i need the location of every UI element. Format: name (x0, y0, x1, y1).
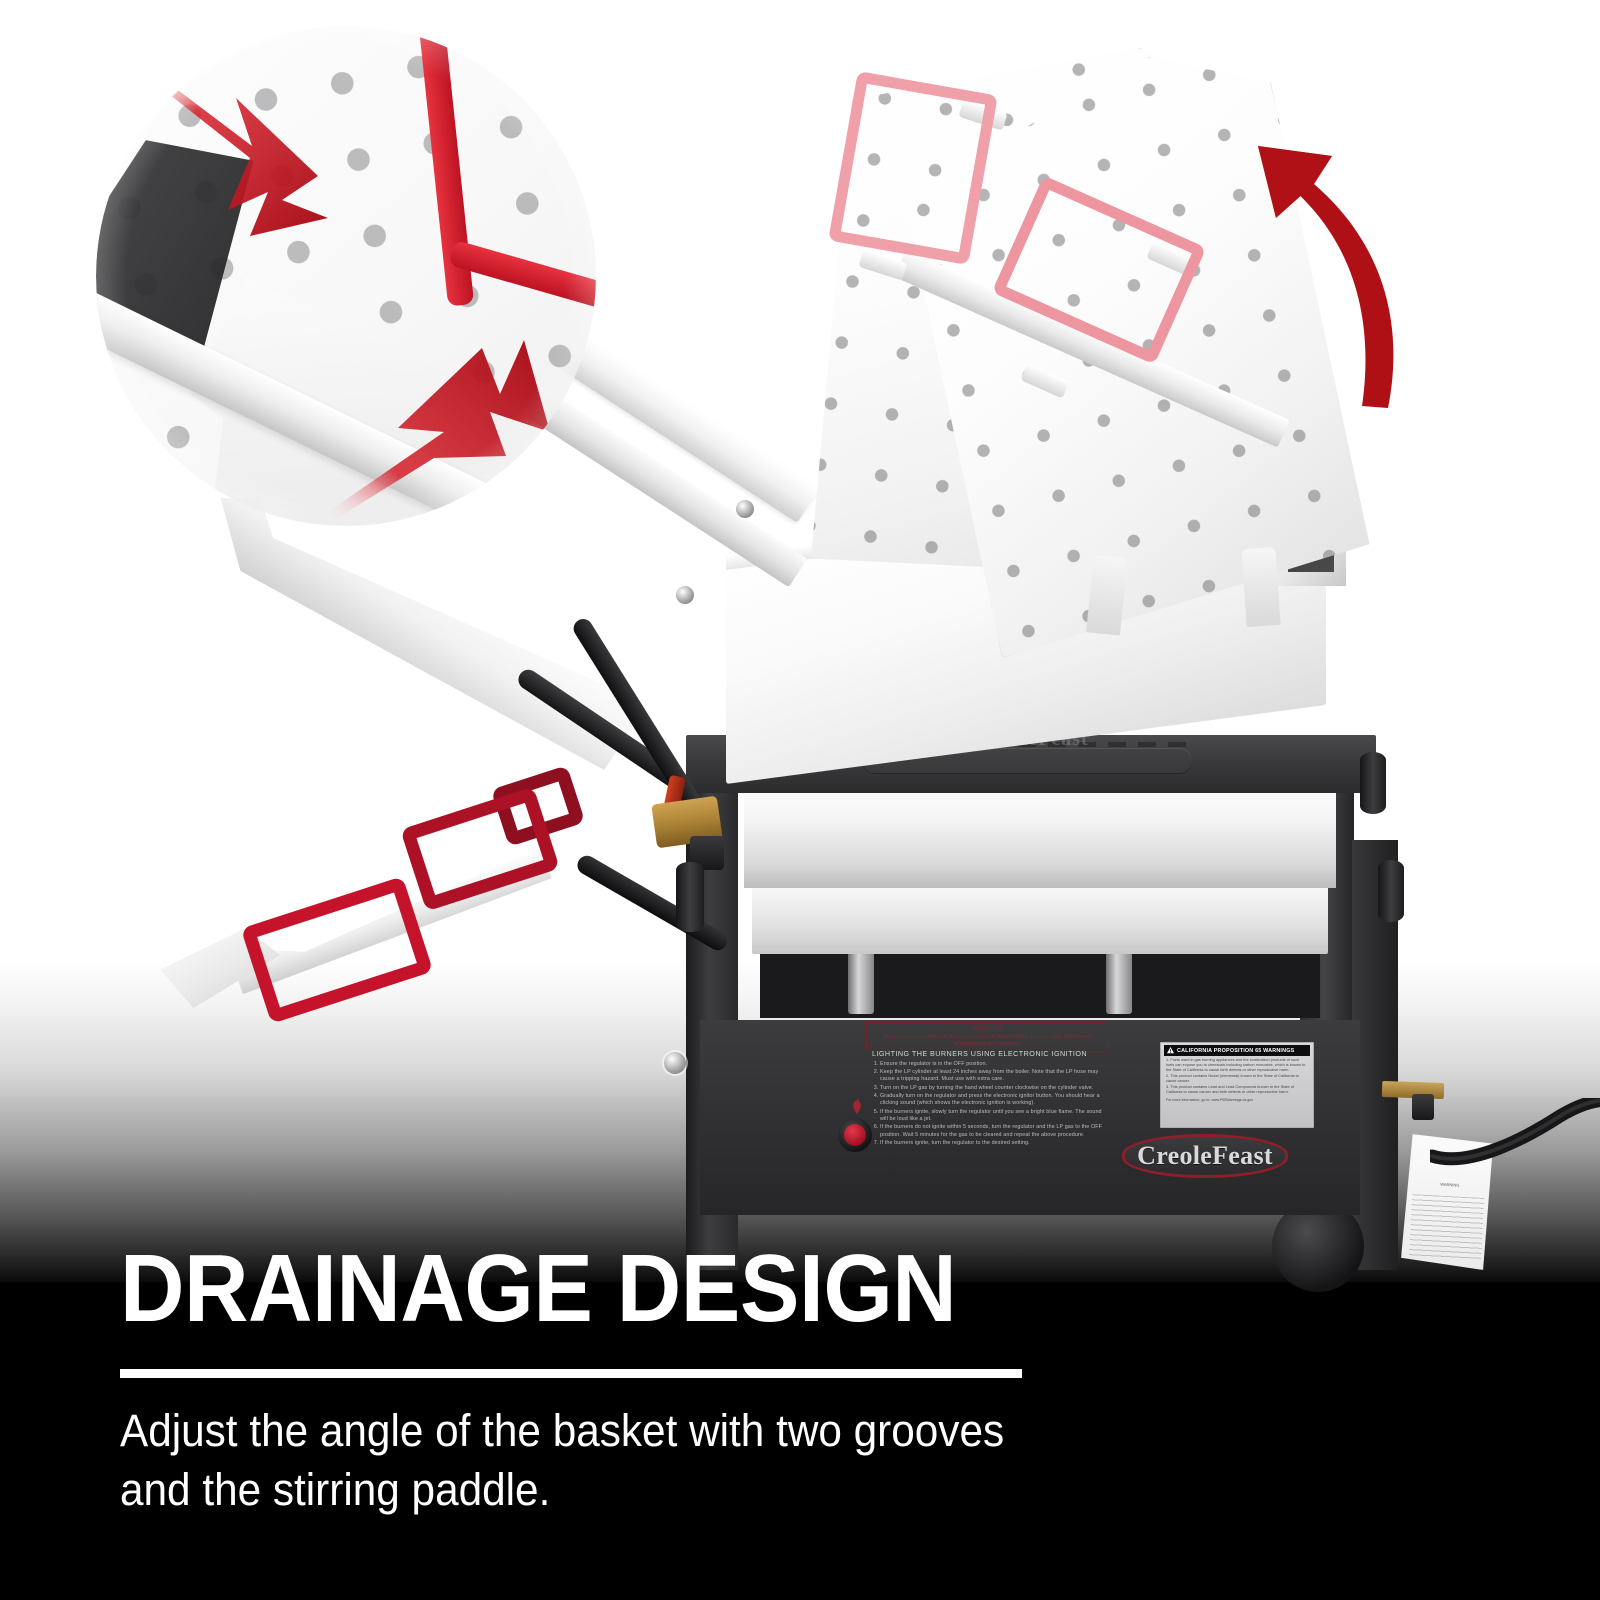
groove-mechanism-closeup (96, 26, 596, 526)
brand-badge: CreoleFeast (1122, 1134, 1288, 1178)
prop65-warning-decal: CALIFORNIA PROPOSITION 65 WARNINGS 1. Fu… (1160, 1042, 1314, 1128)
hanging-tag-text-lines (1409, 1194, 1484, 1260)
prop65-footer: For more information, go to: www.P65Warn… (1164, 1097, 1310, 1103)
page-title: DRAINAGE DESIGN (120, 1241, 956, 1337)
ignition-step: If the burners ignite, turn the regulato… (880, 1140, 1104, 1148)
brand-name: CreoleFeast (1137, 1141, 1273, 1171)
basket-handle-upper (828, 71, 998, 265)
warning-triangle-icon (1167, 1047, 1174, 1054)
burner-bay-panel (752, 880, 1328, 954)
hinge-screw (736, 500, 754, 518)
ignition-step: Gradually turn on the regulator and pres… (880, 1093, 1104, 1108)
subtitle-line-2: and the stirring paddle. (120, 1461, 1173, 1520)
burner-tube-left (848, 952, 874, 1014)
warning-decal-red: WARNING Read instructions before use. Fo… (866, 1022, 1108, 1052)
electronic-ignitor-button[interactable] (838, 1118, 872, 1152)
warning-decal-heading: WARNING (871, 1026, 1103, 1032)
basket-foot (1241, 547, 1280, 627)
lp-gas-hose (1430, 1098, 1600, 1170)
flame-icon (850, 1098, 864, 1114)
red-handle-front (241, 876, 434, 1024)
ignition-step: If the burners do not ignite within 5 se… (880, 1124, 1104, 1139)
burner-tube-right (1106, 952, 1132, 1014)
tool-holder-left (676, 862, 704, 932)
prop65-paragraph: 3. This product contains Lead and Lead C… (1166, 1085, 1308, 1095)
hinge-screw (676, 586, 694, 604)
ignition-steps-list: Ensure the regulator is in the OFF posit… (872, 1061, 1104, 1148)
basket-tilt-motion-arrow (1236, 118, 1426, 408)
warning-decal-body: Read instructions before use. For outdoo… (871, 1034, 1103, 1047)
product-photo: CreoleFeast (0, 0, 1600, 1290)
tool-holder-upper (1360, 752, 1386, 814)
arrow-pointing-to-groove (132, 50, 362, 250)
ignition-step: If the burners ignite, slowly turn the r… (880, 1109, 1104, 1124)
prop65-paragraph: 1. Fuels used in gas burning appliances … (1166, 1058, 1308, 1073)
prop65-paragraph: 2. This product contains Nickel (element… (1166, 1074, 1308, 1084)
arrow-pointing-to-notch (314, 324, 564, 524)
prop65-body: 1. Fuels used in gas burning appliances … (1164, 1056, 1310, 1095)
hinge-screw (664, 1052, 686, 1074)
ignition-step: Turn on the LP gas by turning the hand w… (880, 1085, 1104, 1093)
title-underline (120, 1369, 1022, 1378)
red-handle-mid (400, 786, 560, 911)
ignition-instructions-decal: LIGHTING THE BURNERS USING ELECTRONIC IG… (872, 1050, 1104, 1132)
tool-holder-lower (1378, 860, 1404, 922)
product-feature-image: CreoleFeast (0, 0, 1600, 1600)
ignition-instructions-heading: LIGHTING THE BURNERS USING ELECTRONIC IG… (872, 1050, 1104, 1058)
prop65-heading-bar: CALIFORNIA PROPOSITION 65 WARNINGS (1164, 1045, 1310, 1056)
prop65-heading-text: CALIFORNIA PROPOSITION 65 WARNINGS (1177, 1048, 1294, 1054)
ignition-step: Keep the LP cylinder at least 24 inches … (880, 1069, 1104, 1084)
burner-bay-shadow (760, 946, 1320, 1018)
hanging-tag-heading: WARNING (1419, 1181, 1481, 1189)
subtitle-copy: Adjust the angle of the basket with two … (120, 1402, 1173, 1519)
subtitle-line-1: Adjust the angle of the basket with two … (120, 1402, 1173, 1461)
ignition-step: Ensure the regulator is in the OFF posit… (880, 1061, 1104, 1069)
